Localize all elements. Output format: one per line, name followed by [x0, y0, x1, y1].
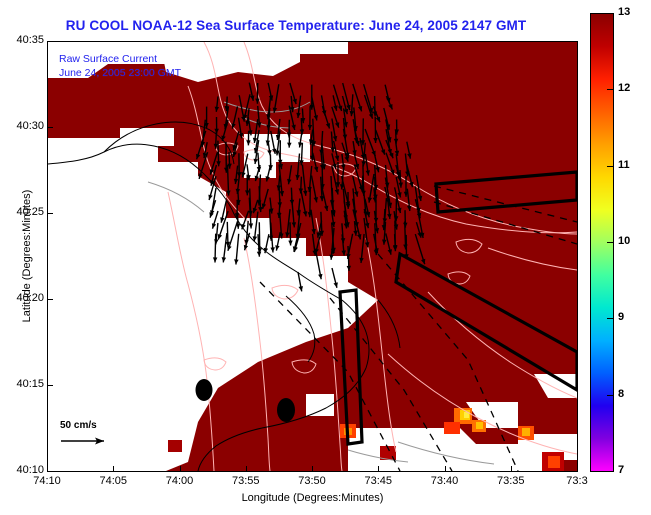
x-tick-mark — [511, 466, 512, 472]
x-tick-label: 73:35 — [481, 475, 541, 487]
y-tick-label: 40:35 — [0, 34, 44, 46]
x-tick-label: 73:55 — [216, 475, 276, 487]
page-title: RU COOL NOAA-12 Sea Surface Temperature:… — [0, 18, 592, 33]
colorbar-tick-mark — [607, 395, 614, 396]
x-tick-label: 74:10 — [17, 475, 77, 487]
x-tick-label: 73:45 — [348, 475, 408, 487]
x-tick-mark — [445, 466, 446, 472]
vector-scale-key: 50 cm/s — [60, 420, 112, 449]
x-axis-label: Longitude (Degrees:Minutes) — [47, 492, 578, 504]
colorbar-tick-mark — [607, 89, 614, 90]
x-tick-label: 74:05 — [83, 475, 143, 487]
colorbar-tick-mark — [607, 318, 614, 319]
x-tick-label: 73:50 — [282, 475, 342, 487]
y-tick-mark — [47, 385, 53, 386]
y-axis-label: Latitude (Degrees:Minutes) — [21, 166, 33, 346]
x-tick-mark — [577, 466, 578, 472]
y-tick-mark — [47, 41, 53, 42]
colorbar-tick-label: 12 — [618, 82, 630, 94]
colorbar-tick-mark — [607, 166, 614, 167]
colorbar-tick-label: 13 — [618, 6, 630, 18]
x-tick-mark — [113, 466, 114, 472]
plot-canvas: Raw Surface Current June 24, 2005 23:00 … — [48, 42, 577, 471]
colorbar-tick-mark — [607, 242, 614, 243]
vector-scale-label: 50 cm/s — [60, 420, 112, 431]
colorbar-tick-label: 9 — [618, 311, 624, 323]
colorbar-tick-label: 11 — [618, 159, 630, 171]
sst-field-svg — [48, 42, 577, 471]
y-tick-mark — [47, 213, 53, 214]
y-tick-mark — [47, 299, 53, 300]
x-tick-mark — [180, 466, 181, 472]
x-tick-label: 73:40 — [415, 475, 475, 487]
x-tick-mark — [47, 466, 48, 472]
y-tick-label: 40:15 — [0, 378, 44, 390]
x-tick-mark — [246, 466, 247, 472]
colorbar-tick-label: 10 — [618, 235, 630, 247]
y-tick-mark — [47, 127, 53, 128]
colorbar-tick-label: 7 — [618, 464, 624, 476]
colorbar-tick-label: 8 — [618, 388, 624, 400]
y-tick-label: 40:30 — [0, 120, 44, 132]
sst-map-plot[interactable]: Raw Surface Current June 24, 2005 23:00 … — [47, 41, 578, 472]
arrow-right-icon — [60, 434, 112, 446]
x-tick-mark — [378, 466, 379, 472]
x-tick-label: 74:00 — [150, 475, 210, 487]
colorbar-tick-mark — [607, 471, 614, 472]
x-tick-mark — [312, 466, 313, 472]
x-tick-label: 73:3 — [547, 475, 607, 487]
